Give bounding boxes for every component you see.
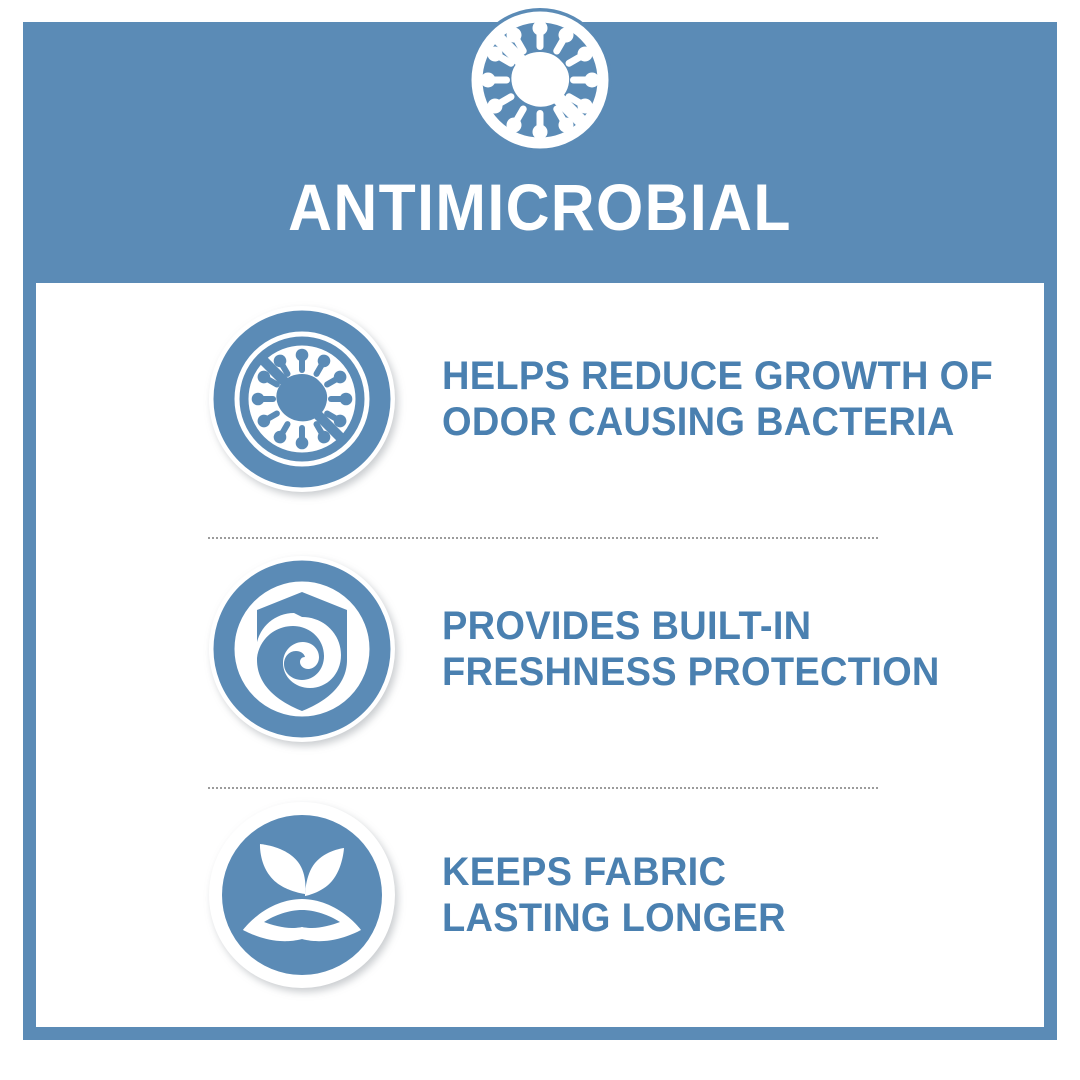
- feature-line-2: LASTING LONGER: [442, 895, 786, 941]
- page-title: ANTIMICROBIAL: [64, 174, 1015, 240]
- row-divider: [208, 537, 878, 539]
- feature-line-2: ODOR CAUSING BACTERIA: [442, 399, 993, 445]
- feature-line-2: FRESHNESS PROTECTION: [442, 649, 940, 695]
- feature-text: HELPS REDUCE GROWTH OF ODOR CAUSING BACT…: [442, 353, 993, 445]
- infographic-canvas: ANTIMICROBIAL: [0, 0, 1080, 1080]
- feature-row: KEEPS FABRIC LASTING LONGER: [36, 795, 1044, 995]
- feature-line-1: KEEPS FABRIC: [442, 849, 786, 895]
- feature-row: HELPS REDUCE GROWTH OF ODOR CAUSING BACT…: [36, 299, 1044, 499]
- feature-line-1: PROVIDES BUILT-IN: [442, 603, 940, 649]
- shield-swirl-icon: [207, 554, 397, 744]
- leaf-sprout-icon: [207, 800, 397, 990]
- feature-row: PROVIDES BUILT-IN FRESHNESS PROTECTION: [36, 549, 1044, 749]
- feature-text: PROVIDES BUILT-IN FRESHNESS PROTECTION: [442, 603, 940, 695]
- no-virus-circle-icon: [207, 304, 397, 494]
- content-panel: HELPS REDUCE GROWTH OF ODOR CAUSING BACT…: [36, 283, 1044, 1027]
- row-divider: [208, 787, 878, 789]
- no-virus-icon: [468, 8, 612, 152]
- feature-line-1: HELPS REDUCE GROWTH OF: [442, 353, 993, 399]
- feature-text: KEEPS FABRIC LASTING LONGER: [442, 849, 786, 941]
